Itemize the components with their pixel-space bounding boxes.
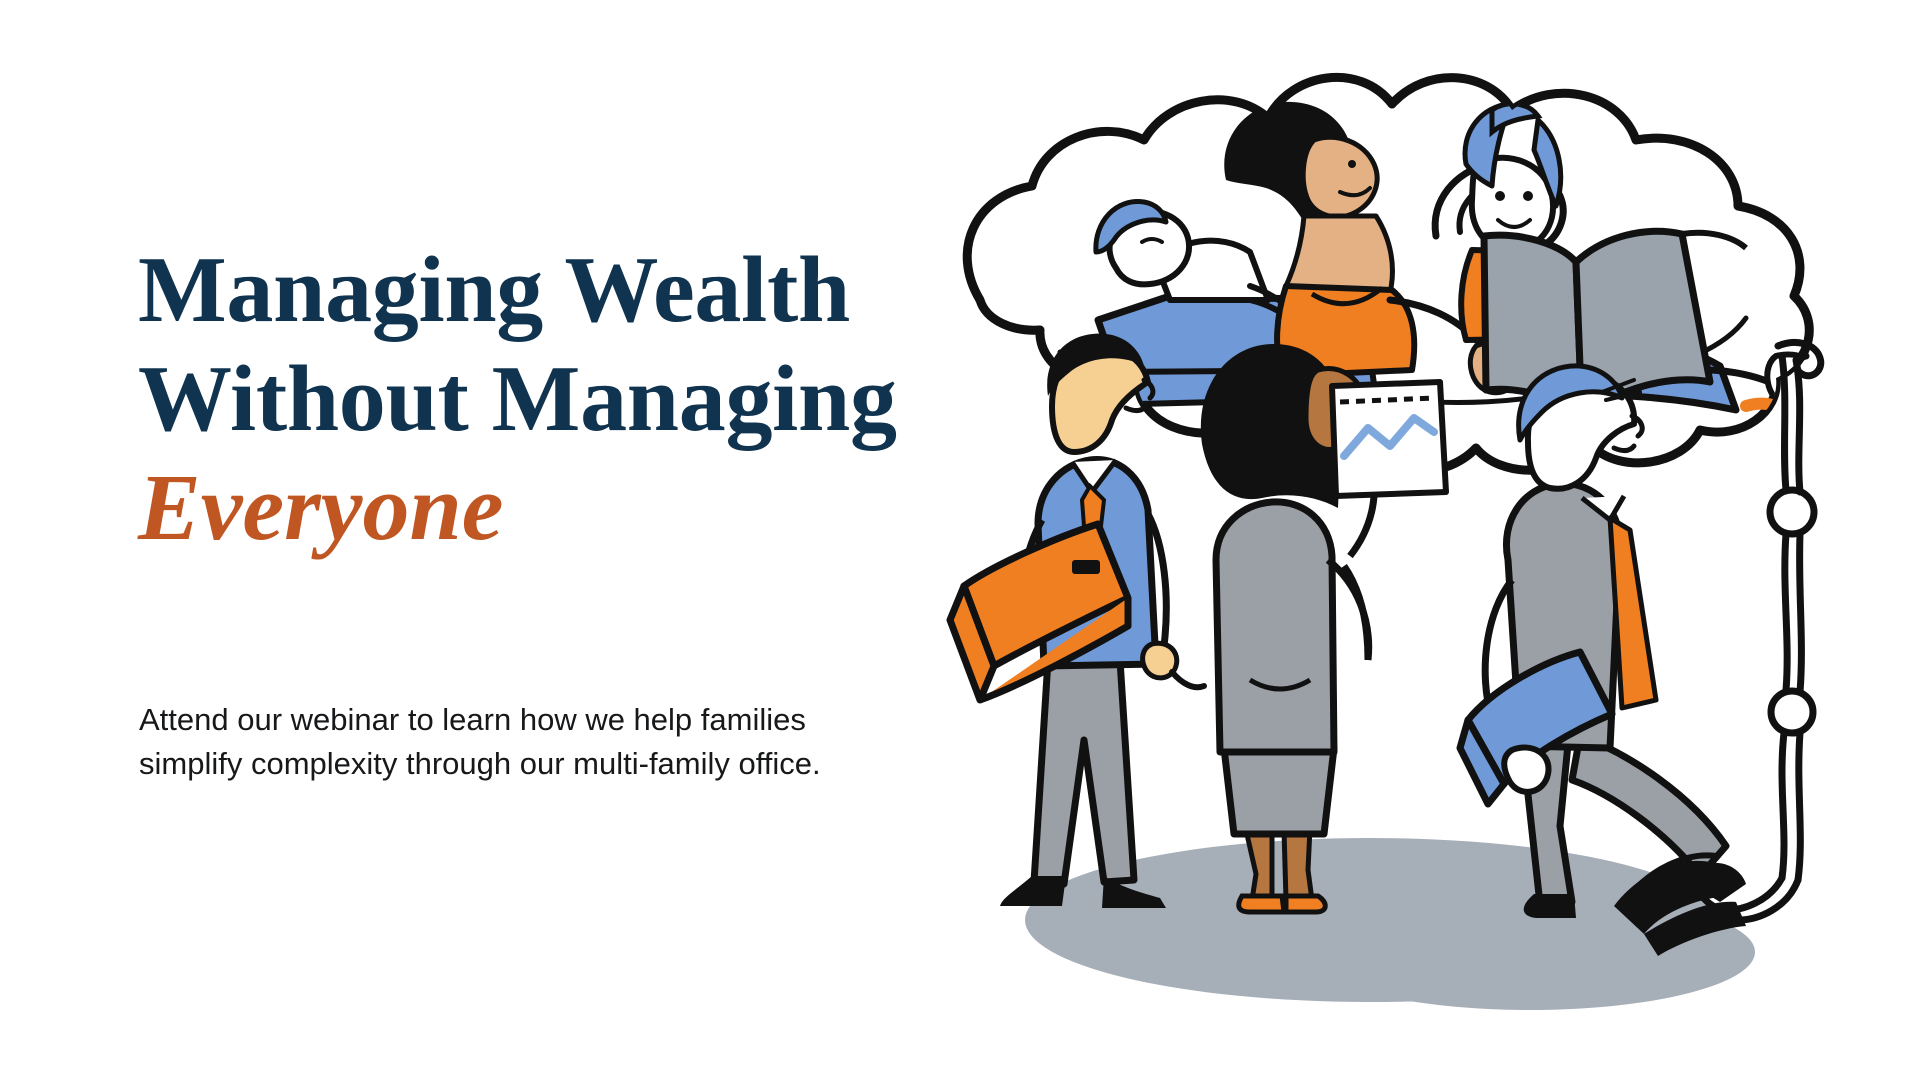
zigzag-line-chart [1332,382,1446,496]
slide-canvas: Managing Wealth Without Managing Everyon… [0,0,1920,1080]
body-paragraph: Attend our webinar to learn how we help … [139,698,899,786]
woman-holding-chart-paper [1201,344,1446,912]
cloud-tethered-to-ground-illustration [920,0,1920,1080]
